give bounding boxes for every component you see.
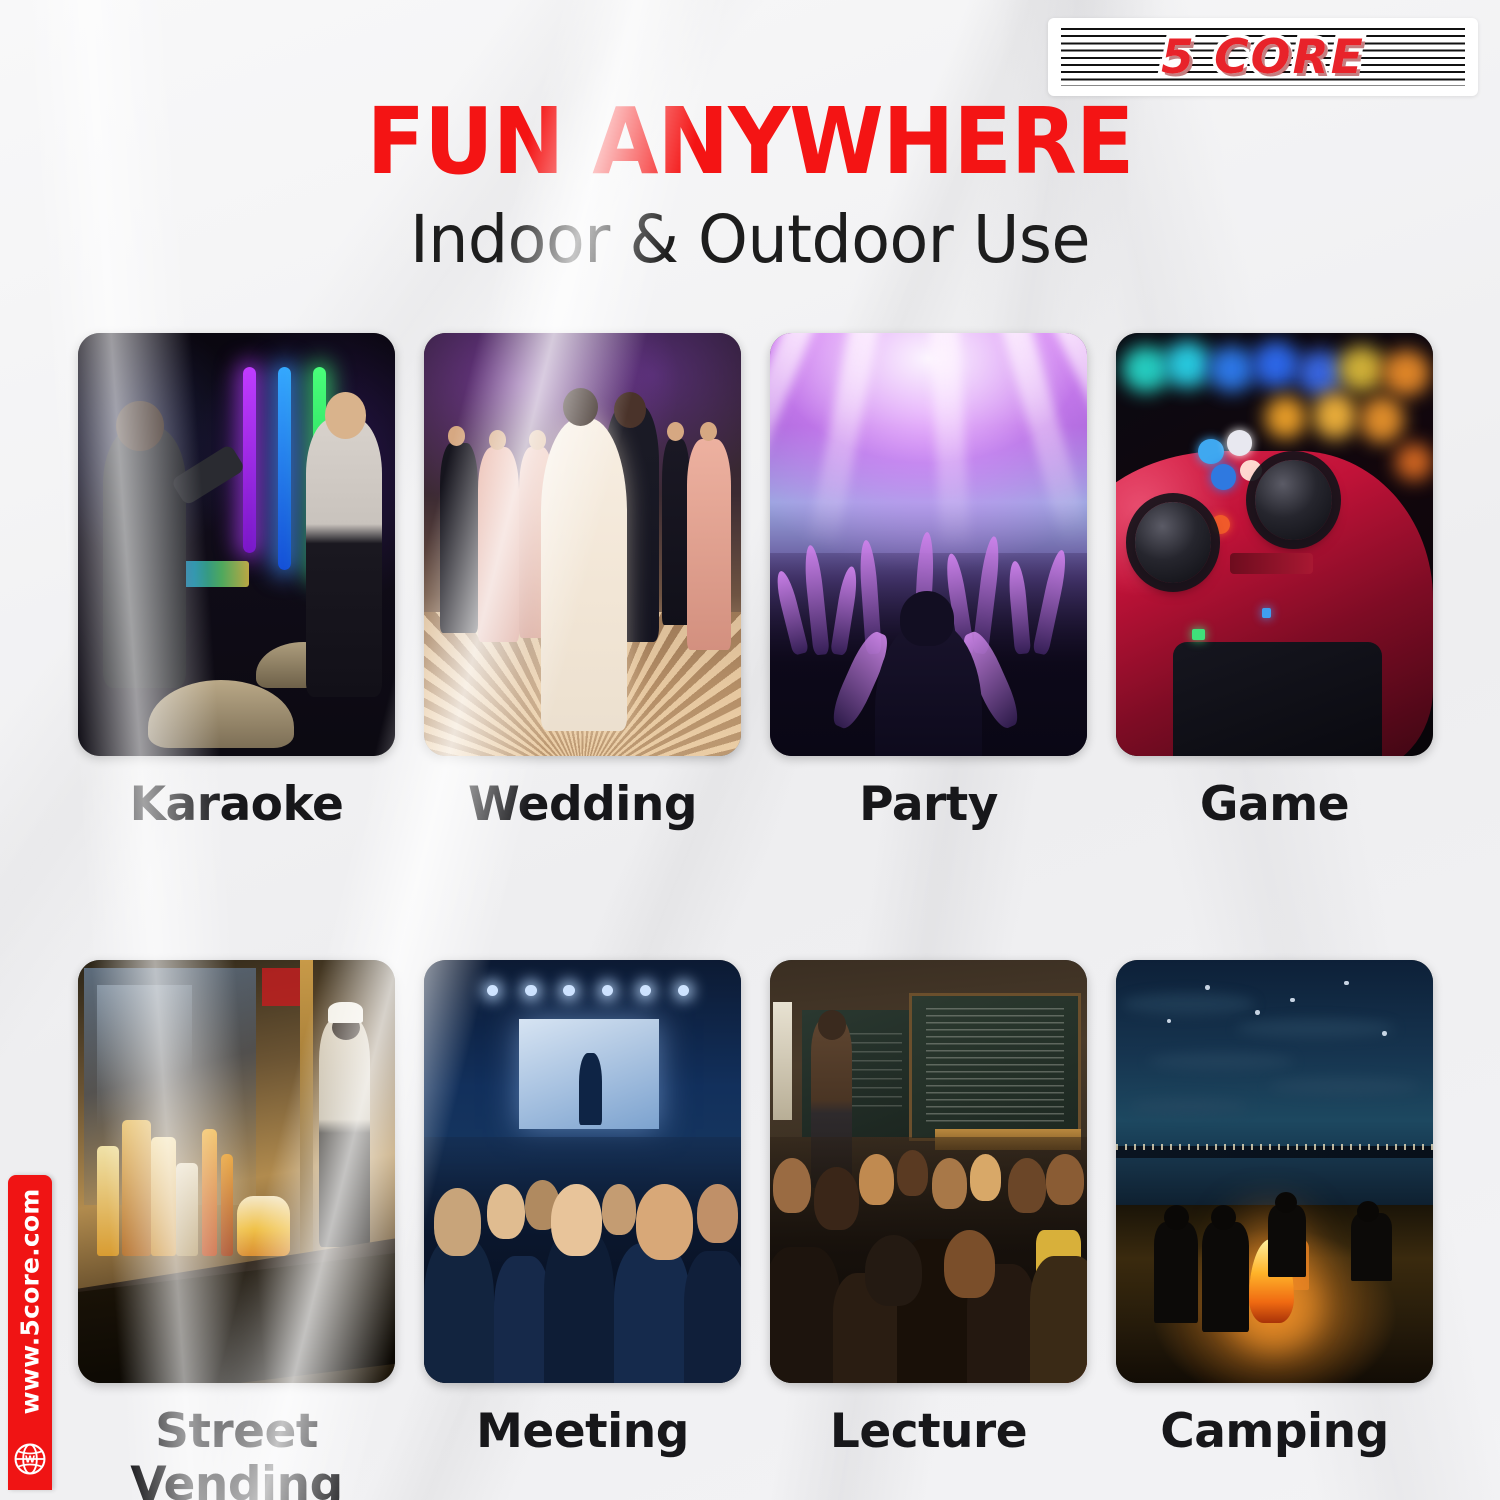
website-watermark-tab[interactable]: www.5core.com W xyxy=(8,1175,52,1490)
use-case-label: Meeting xyxy=(424,1405,741,1459)
use-case-label: Lecture xyxy=(770,1405,1087,1459)
logo-wordmark: 5 CORE 5 CORE xyxy=(1147,30,1379,85)
use-case-label: Karaoke xyxy=(78,778,395,832)
use-case-cell-wedding[interactable]: Wedding xyxy=(424,333,741,832)
camping-photo xyxy=(1116,960,1433,1383)
page-headline: FUN ANYWHERE xyxy=(53,96,1448,188)
use-case-row: Street Vending xyxy=(78,960,1426,1500)
use-case-label: Wedding xyxy=(424,778,741,832)
use-case-row: Karaoke xyxy=(78,333,1426,832)
globe-www-icon: W xyxy=(13,1442,47,1476)
neon-tube-blue xyxy=(278,367,291,570)
use-case-label: Camping xyxy=(1116,1405,1433,1459)
neon-tube-purple xyxy=(243,367,256,553)
wedding-photo xyxy=(424,333,741,756)
use-case-cell-meeting[interactable]: Meeting xyxy=(424,960,741,1500)
website-url-text: www.5core.com xyxy=(16,1188,45,1414)
party-photo xyxy=(770,333,1087,756)
use-case-cell-camping[interactable]: Camping xyxy=(1116,960,1433,1500)
use-case-label: Party xyxy=(770,778,1087,832)
infographic-page: 5 CORE 5 CORE FUN ANYWHERE Indoor & Outd… xyxy=(0,0,1500,1500)
use-case-cell-lecture[interactable]: Lecture xyxy=(770,960,1087,1500)
game-photo xyxy=(1116,333,1433,756)
use-case-label: Street Vending xyxy=(78,1405,395,1500)
five-core-logo: 5 CORE 5 CORE xyxy=(1048,18,1478,96)
lecture-photo xyxy=(770,960,1087,1383)
use-case-cell-party[interactable]: Party xyxy=(770,333,1087,832)
use-case-cell-street-vending[interactable]: Street Vending xyxy=(78,960,395,1500)
use-case-label-line2: Vending xyxy=(130,1457,343,1500)
use-case-cell-game[interactable]: Game xyxy=(1116,333,1433,832)
meeting-photo xyxy=(424,960,741,1383)
use-case-label-line1: Street xyxy=(155,1404,318,1459)
street-vending-photo xyxy=(78,960,395,1383)
logo-stripes: 5 CORE 5 CORE xyxy=(1061,28,1465,86)
use-case-cell-karaoke[interactable]: Karaoke xyxy=(78,333,395,832)
page-subheadline: Indoor & Outdoor Use xyxy=(30,207,1470,273)
use-case-grid: Karaoke xyxy=(78,333,1426,1500)
svg-text:W: W xyxy=(25,1454,36,1465)
logo-wordmark-fill: 5 CORE xyxy=(1161,30,1365,85)
use-case-label: Game xyxy=(1116,778,1433,832)
karaoke-photo xyxy=(78,333,395,756)
